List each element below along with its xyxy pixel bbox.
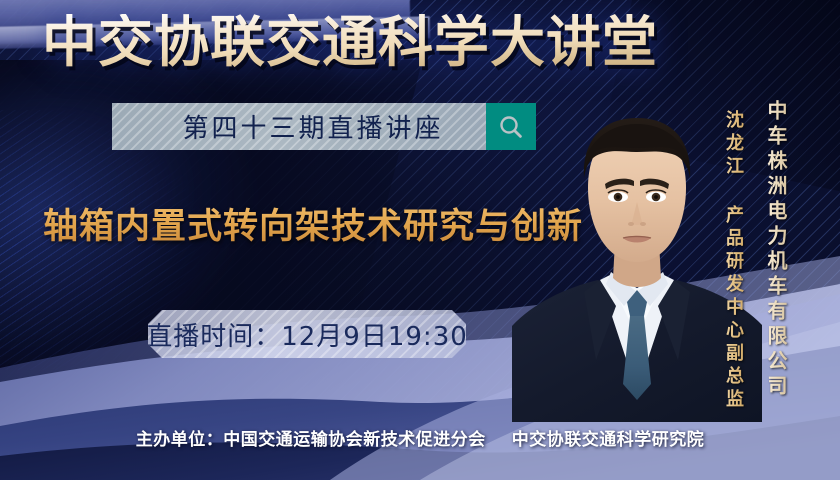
live-lecture-poster: 中交协联交通科学大讲堂 第四十三期直播讲座 轴箱内置式转向架技术研究与创新 直播… (0, 0, 840, 480)
footer-organizers: 主办单位：中国交通运输协会新技术促进分会中交协联交通科学研究院 (0, 425, 840, 450)
footer-organizer-secondary: 中交协联交通科学研究院 (512, 430, 705, 450)
live-time-text: 直播时间：12月9日19:30 (148, 316, 466, 353)
page-title: 中交协联交通科学大讲堂 (0, 14, 700, 72)
speaker-company: 中车株洲电力机车有限公司 (762, 100, 791, 400)
search-icon (497, 113, 525, 141)
search-button[interactable] (486, 103, 536, 150)
lecture-title: 轴箱内置式转向架技术研究与创新 (43, 198, 583, 249)
footer-organizer-primary: 主办单位：中国交通运输协会新技术促进分会 (136, 430, 486, 450)
episode-label: 第四十三期直播讲座 (154, 108, 443, 145)
live-time-badge: 直播时间：12月9日19:30 (148, 310, 466, 358)
episode-bar-body: 第四十三期直播讲座 (112, 103, 486, 150)
episode-bar: 第四十三期直播讲座 (112, 103, 536, 150)
speaker-name-role: 沈龙江 产品研发中心副总监 (720, 110, 746, 412)
